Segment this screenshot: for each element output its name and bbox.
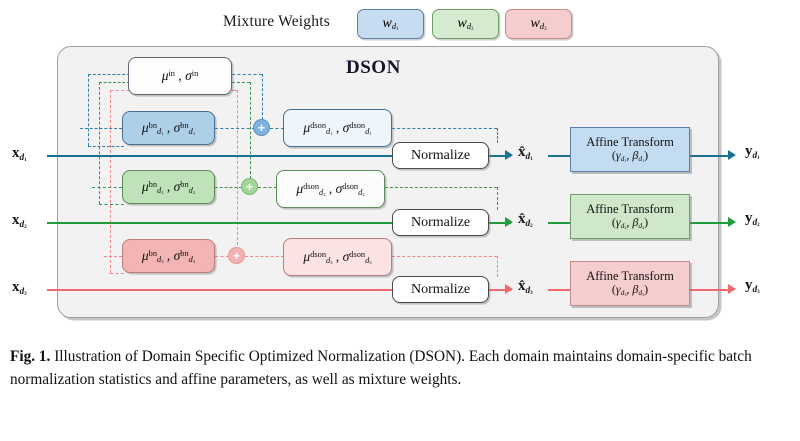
dashed-in-d3-top <box>110 90 130 91</box>
flow-line-d2-in <box>47 222 392 224</box>
flow-line-d2-to-affine <box>548 222 570 224</box>
bn-stats-label-d1: μbnd1 , σbnd1 <box>142 120 195 136</box>
flow-line-d2-out <box>690 222 732 224</box>
dashed-dson3-down <box>497 256 498 277</box>
arrow-d2-to-output <box>728 217 736 227</box>
dashed-in-down-d1 <box>262 74 263 120</box>
dashed-feed-bn1 <box>80 128 122 129</box>
flow-line-d3-to-affine <box>548 289 570 291</box>
input-label-d1: xd1 <box>12 145 27 163</box>
arrow-d3-to-output <box>728 284 736 294</box>
bn-stats-box-d2: μbnd2 , σbnd2 <box>122 170 215 204</box>
arrow-d1-to-xhat <box>505 150 513 160</box>
dashed-dson3-right <box>392 256 497 257</box>
affine-transform-box-d2: Affine Transform (γd2, βd2) <box>570 194 690 239</box>
dson-stats-label-d3: μdsond3 , σdsond3 <box>303 249 371 265</box>
dashed-bn1-to-plus <box>215 128 255 129</box>
dson-stats-label-d1: μdsond1 , σdsond1 <box>303 120 371 136</box>
arrow-d1-to-output <box>728 150 736 160</box>
dashed-bn2-to-plus <box>215 187 242 188</box>
affine-title-d1: Affine Transform <box>586 135 674 149</box>
dashed-in-d1-top <box>88 74 130 75</box>
dashed-in-d2-top <box>99 82 130 83</box>
dashed-feed-bn2 <box>92 187 122 188</box>
affine-title-d2: Affine Transform <box>586 202 674 216</box>
dashed-in-to-d3-left <box>110 90 111 273</box>
dashed-dson2-right <box>385 187 497 188</box>
dashed-in-d2-bottom <box>99 204 124 205</box>
affine-params-d2: (γd2, βd2) <box>612 216 648 231</box>
normalized-label-d3: x̂d3 <box>518 278 533 296</box>
bn-stats-label-d2: μbnd2 , σbnd2 <box>142 179 195 195</box>
affine-title-d3: Affine Transform <box>586 269 674 283</box>
normalize-box-d3: Normalize <box>392 276 489 303</box>
input-label-d2: xd2 <box>12 212 27 230</box>
dson-stats-box-d2: μdsond2 , σdsond2 <box>276 170 385 208</box>
dashed-plus-to-dson2 <box>258 187 277 188</box>
output-label-d3: yd3 <box>745 277 760 295</box>
flow-line-d1-out <box>690 155 732 157</box>
dson-title: DSON <box>346 57 401 79</box>
flow-line-d1-to-affine <box>548 155 570 157</box>
affine-transform-box-d1: Affine Transform (γd1, βd1) <box>570 127 690 172</box>
flow-line-d3-in <box>47 289 392 291</box>
figure-caption: Fig. 1. Illustration of Domain Specific … <box>10 345 790 392</box>
plus-node-d1: + <box>253 119 270 136</box>
dson-stats-label-d2: μdsond2 , σdsond2 <box>296 181 364 197</box>
figure-number: Fig. 1. <box>10 348 50 365</box>
dashed-bn3-to-plus <box>215 256 229 257</box>
mixture-weights-label: Mixture Weights <box>223 13 330 31</box>
normalize-box-d1: Normalize <box>392 142 489 169</box>
dashed-plus-to-dson1 <box>270 128 284 129</box>
dashed-feed-bn3 <box>104 256 122 257</box>
flow-line-d1-in <box>47 155 392 157</box>
dashed-dson1-down <box>497 128 498 143</box>
figure-root: Mixture Weights wd1 wd2 wd3 DSON <box>0 0 800 441</box>
dashed-in-down-d3 <box>237 90 238 255</box>
dashed-in-to-d2-left <box>99 82 100 204</box>
mixture-weight-label-d3: wd3 <box>530 16 546 32</box>
affine-transform-box-d3: Affine Transform (γd3, βd3) <box>570 261 690 306</box>
flow-line-d3-out <box>690 289 732 291</box>
plus-node-d3: + <box>228 247 245 264</box>
arrow-d3-to-xhat <box>505 284 513 294</box>
input-label-d3: xd3 <box>12 279 27 297</box>
mixture-weight-box-d2: wd2 <box>432 9 499 39</box>
bn-stats-label-d3: μbnd3 , σbnd3 <box>142 248 195 264</box>
dashed-in-right-d2 <box>232 82 250 83</box>
dson-stats-box-d1: μdsond1 , σdsond1 <box>283 109 392 147</box>
dashed-in-down-d2 <box>250 82 251 179</box>
output-label-d2: yd2 <box>745 210 760 228</box>
plus-node-d2: + <box>241 178 258 195</box>
dashed-in-right-d1 <box>232 74 262 75</box>
normalized-label-d1: x̂d1 <box>518 144 533 162</box>
mixture-weight-box-d3: wd3 <box>505 9 572 39</box>
bn-stats-box-d1: μbnd1 , σbnd1 <box>122 111 215 145</box>
affine-params-d3: (γd3, βd3) <box>612 283 648 298</box>
normalize-box-d2: Normalize <box>392 209 489 236</box>
arrow-d2-to-xhat <box>505 217 513 227</box>
bn-stats-box-d3: μbnd3 , σbnd3 <box>122 239 215 273</box>
dashed-dson2-down <box>497 187 498 210</box>
dashed-in-to-d1-left <box>88 74 89 146</box>
instance-stats-label: μin , σin <box>162 68 199 84</box>
caption-text: Illustration of Domain Specific Optimize… <box>10 348 752 388</box>
instance-stats-box: μin , σin <box>128 57 232 95</box>
mixture-weight-label-d2: wd2 <box>457 16 473 32</box>
dashed-in-d3-bottom <box>110 273 124 274</box>
dashed-dson1-right <box>392 128 497 129</box>
output-label-d1: yd1 <box>745 143 760 161</box>
mixture-weight-label-d1: wd1 <box>382 16 398 32</box>
dashed-in-d1-bottom <box>88 146 124 147</box>
dson-stats-box-d3: μdsond3 , σdsond3 <box>283 238 392 276</box>
affine-params-d1: (γd1, βd1) <box>612 149 648 164</box>
normalized-label-d2: x̂d2 <box>518 211 533 229</box>
mixture-weight-box-d1: wd1 <box>357 9 424 39</box>
dashed-plus-to-dson3 <box>245 256 284 257</box>
